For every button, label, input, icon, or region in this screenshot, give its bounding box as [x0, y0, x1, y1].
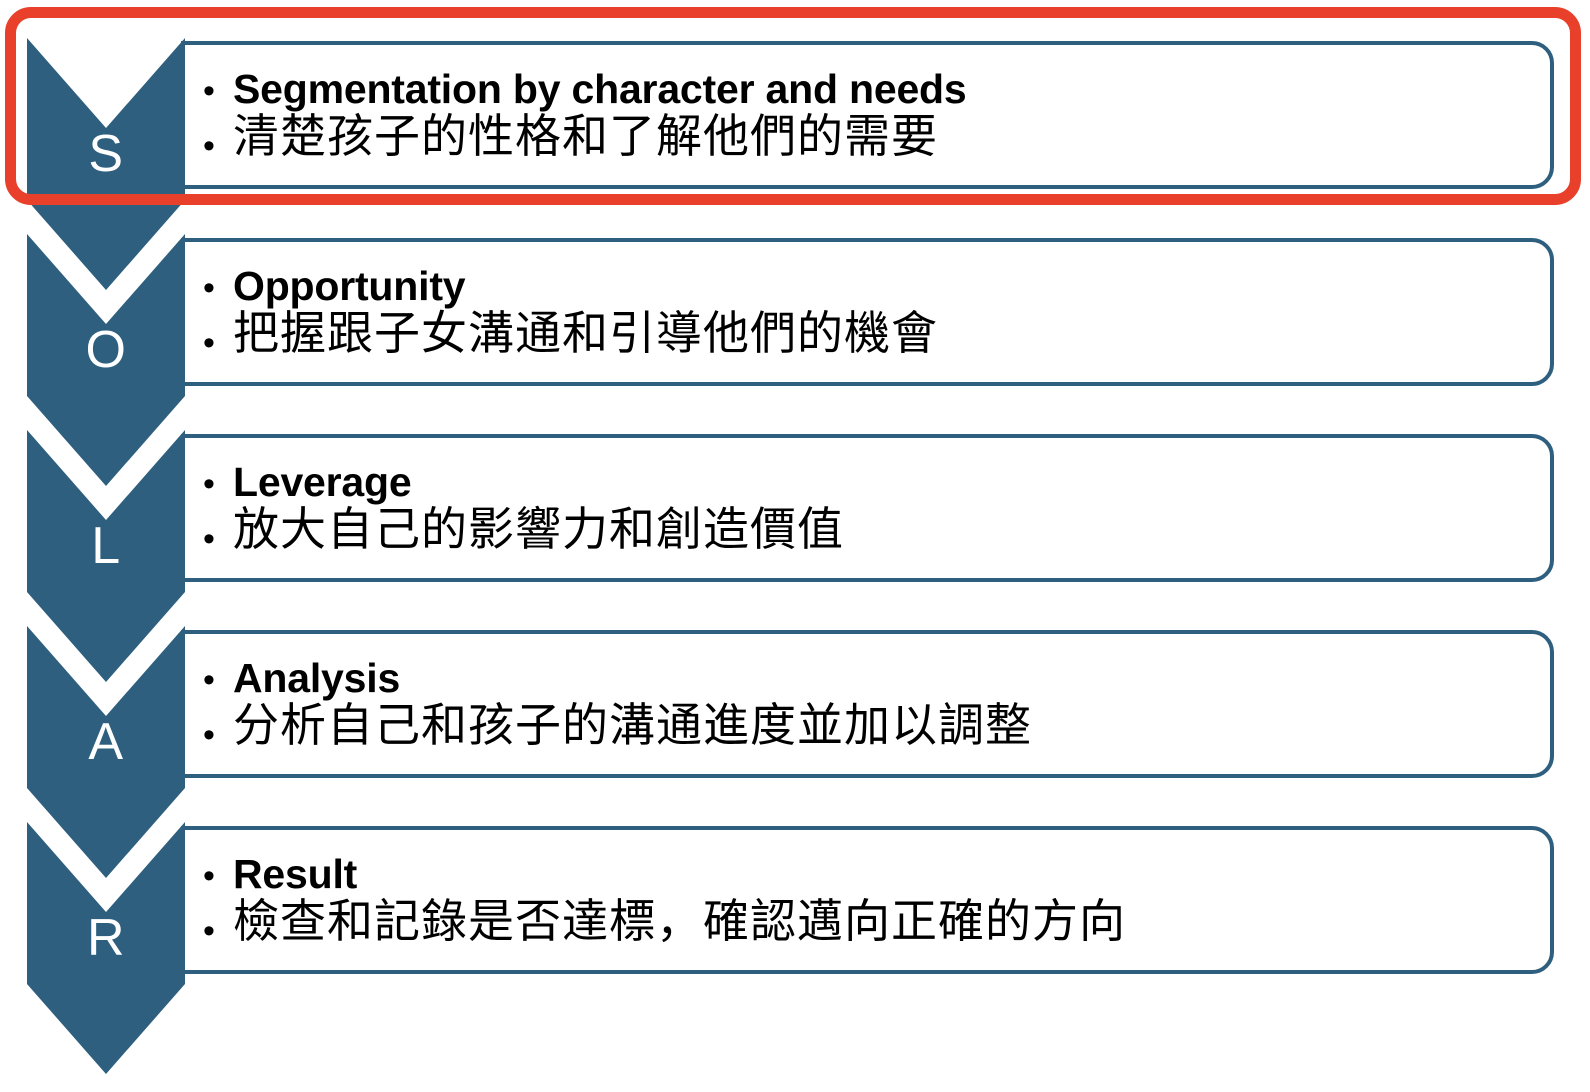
bullet-icon: • [203, 129, 233, 163]
step-detail-l: 放大自己的影響力和創造價值 [233, 504, 844, 556]
bullet-icon: • [203, 271, 233, 305]
bullet-icon: • [203, 522, 233, 556]
step-detail-line-s: • 清楚孩子的性格和了解他們的需要 [185, 111, 1550, 163]
step-panel-o[interactable]: • Opportunity • 把握跟子女溝通和引導他們的機會 [181, 238, 1554, 386]
step-detail-line-a: • 分析自己和孩子的溝通進度並加以調整 [185, 700, 1550, 752]
step-detail-s: 清楚孩子的性格和了解他們的需要 [233, 111, 938, 163]
step-detail-line-o: • 把握跟子女溝通和引導他們的機會 [185, 308, 1550, 360]
step-title-line-l: • Leverage [185, 460, 1550, 504]
step-title-o: Opportunity [233, 264, 465, 308]
bullet-icon: • [203, 74, 233, 108]
step-title-line-o: • Opportunity [185, 264, 1550, 308]
step-title-s: Segmentation by character and needs [233, 67, 967, 111]
step-title-r: Result [233, 852, 357, 896]
chevron-letter-a: A [27, 716, 185, 768]
step-panel-a[interactable]: • Analysis • 分析自己和孩子的溝通進度並加以調整 [181, 630, 1554, 778]
step-title-l: Leverage [233, 460, 411, 504]
step-detail-line-r: • 檢查和記錄是否達標，確認邁向正確的方向 [185, 896, 1550, 948]
step-detail-o: 把握跟子女溝通和引導他們的機會 [233, 308, 938, 360]
bullet-icon: • [203, 326, 233, 360]
chevron-letter-r: R [27, 912, 185, 964]
step-title-line-s: • Segmentation by character and needs [185, 67, 1550, 111]
bullet-icon: • [203, 859, 233, 893]
step-detail-r: 檢查和記錄是否達標，確認邁向正確的方向 [233, 896, 1126, 948]
chevron-letter-s: S [27, 128, 185, 180]
step-title-a: Analysis [233, 656, 400, 700]
chevron-letter-l: L [27, 520, 185, 572]
bullet-icon: • [203, 467, 233, 501]
step-detail-line-l: • 放大自己的影響力和創造價值 [185, 504, 1550, 556]
step-panel-s[interactable]: • Segmentation by character and needs • … [181, 41, 1554, 189]
step-title-line-a: • Analysis [185, 656, 1550, 700]
diagram-canvas: S • Segmentation by character and needs … [0, 0, 1590, 1092]
bullet-icon: • [203, 718, 233, 752]
step-title-line-r: • Result [185, 852, 1550, 896]
step-detail-a: 分析自己和孩子的溝通進度並加以調整 [233, 700, 1032, 752]
chevron-letter-o: O [27, 324, 185, 376]
step-panel-r[interactable]: • Result • 檢查和記錄是否達標，確認邁向正確的方向 [181, 826, 1554, 974]
bullet-icon: • [203, 914, 233, 948]
bullet-icon: • [203, 663, 233, 697]
step-panel-l[interactable]: • Leverage • 放大自己的影響力和創造價值 [181, 434, 1554, 582]
